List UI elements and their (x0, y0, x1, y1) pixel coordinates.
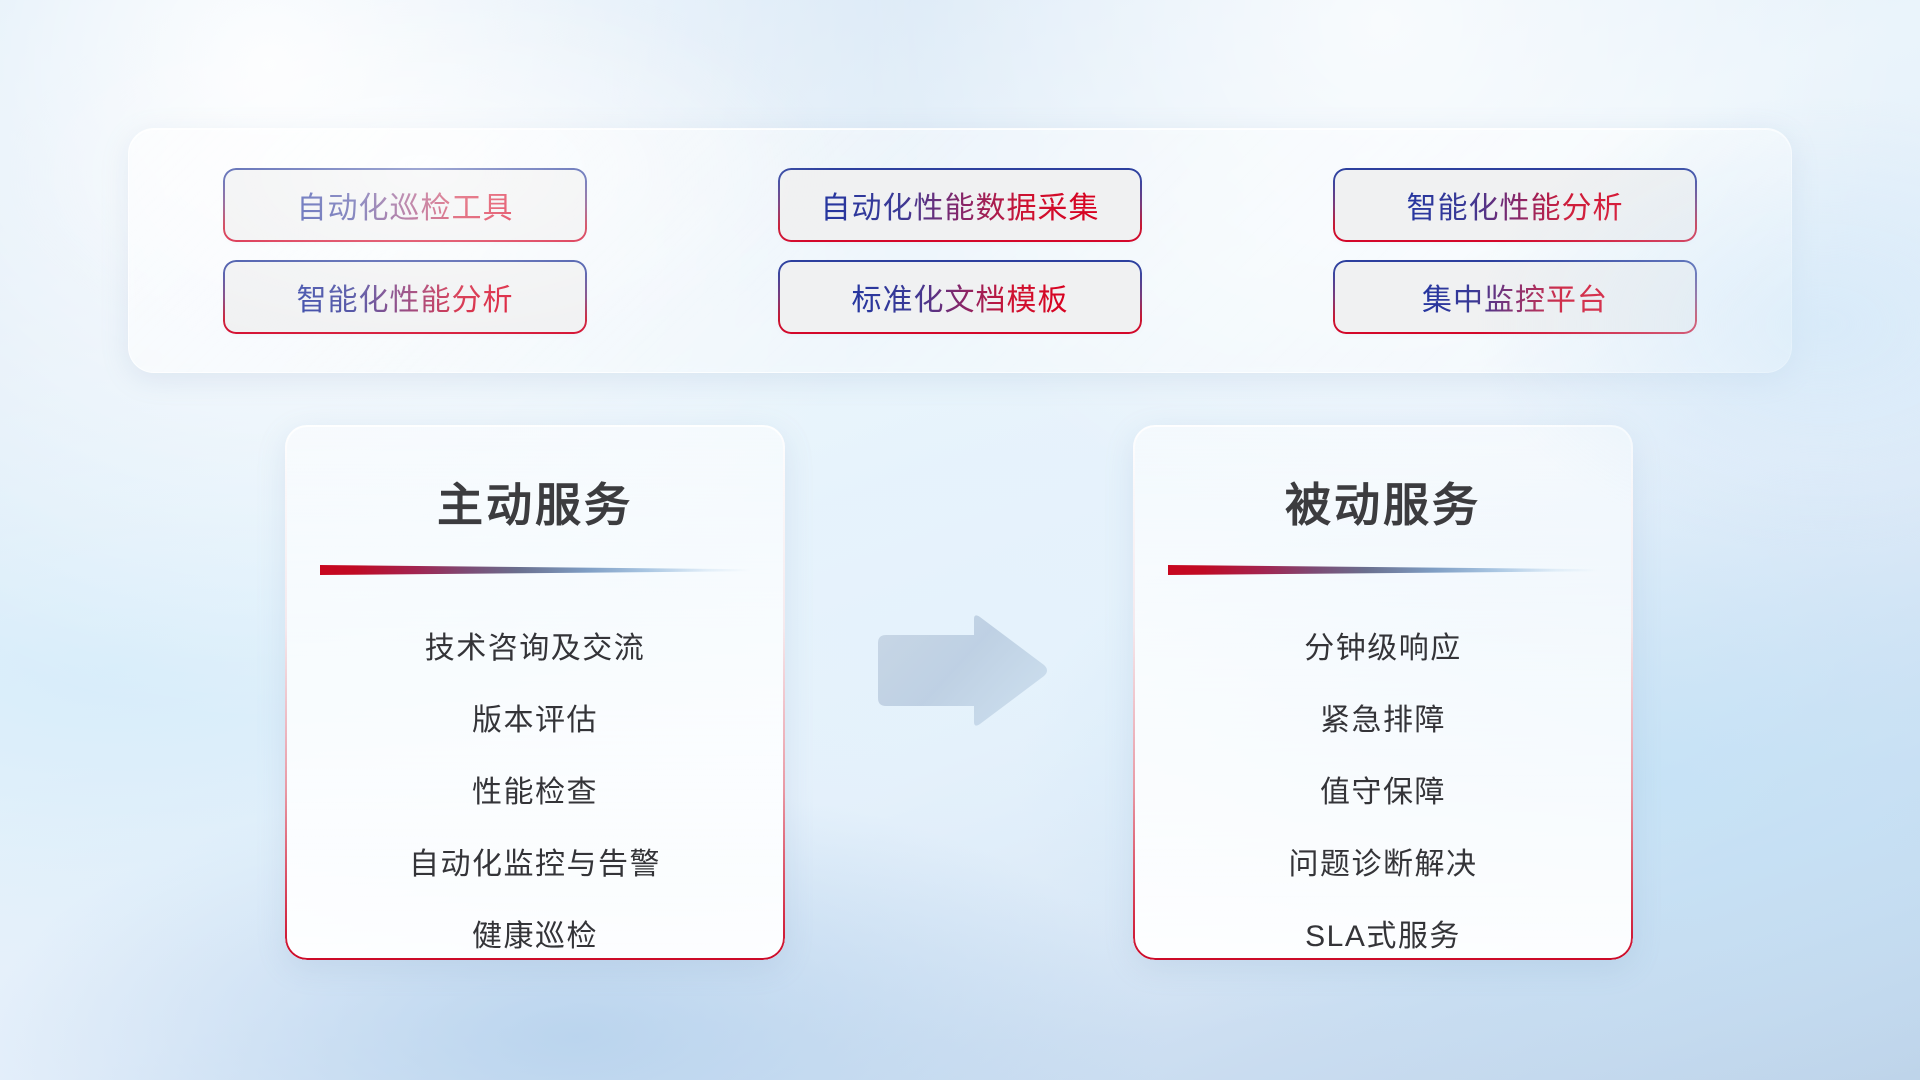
service-card-title: 被动服务 (1133, 469, 1633, 535)
capability-pill-intelligent-performance-analysis-bottom[interactable]: 智能化性能分析 (225, 262, 585, 332)
capability-pill-label: 自动化巡检工具 (297, 183, 514, 227)
capability-pill-automated-performance-data-collection[interactable]: 自动化性能数据采集 (780, 170, 1140, 240)
list-item: 版本评估 (472, 681, 598, 753)
list-item: 健康巡检 (472, 897, 598, 960)
capability-pill-label: 标准化文档模板 (852, 275, 1069, 319)
capability-panel: 自动化巡检工具 自动化性能数据采集 智能化性能分析 智能化性能分析 标准化文档模… (128, 128, 1792, 373)
list-item: 技术咨询及交流 (425, 609, 646, 681)
capability-pill-intelligent-performance-analysis-top[interactable]: 智能化性能分析 (1335, 170, 1695, 240)
title-divider (1168, 565, 1598, 575)
service-card-reactive: 被动服务 分钟级响应 紧急排障 值守保障 问题诊断解决 SLA式服务 (1133, 425, 1633, 960)
capability-pill-label: 智能化性能分析 (297, 275, 514, 319)
capability-pill-label: 自动化性能数据采集 (821, 183, 1100, 227)
flow-arrow-right (870, 613, 1050, 728)
capability-pill-standardized-document-template[interactable]: 标准化文档模板 (780, 262, 1140, 332)
capability-row-1: 自动化巡检工具 自动化性能数据采集 智能化性能分析 (225, 170, 1695, 240)
capability-row-2: 智能化性能分析 标准化文档模板 集中监控平台 (225, 262, 1695, 332)
capability-pill-label: 智能化性能分析 (1407, 183, 1624, 227)
capability-pill-label: 集中监控平台 (1422, 275, 1608, 319)
service-card-title: 主动服务 (285, 469, 785, 535)
list-item: 值守保障 (1320, 753, 1446, 825)
list-item: SLA式服务 (1305, 897, 1461, 960)
list-item: 紧急排障 (1320, 681, 1446, 753)
infographic-stage: 自动化巡检工具 自动化性能数据采集 智能化性能分析 智能化性能分析 标准化文档模… (0, 0, 1920, 1080)
capability-pill-automated-inspection-tool[interactable]: 自动化巡检工具 (225, 170, 585, 240)
list-item: 分钟级响应 (1304, 609, 1462, 681)
divider-wedge (1168, 565, 1598, 575)
list-item: 自动化监控与告警 (409, 825, 661, 897)
list-item: 性能检查 (472, 753, 598, 825)
divider-wedge (320, 565, 750, 575)
service-item-list: 分钟级响应 紧急排障 值守保障 问题诊断解决 SLA式服务 (1133, 609, 1633, 960)
list-item: 问题诊断解决 (1289, 825, 1478, 897)
service-card-proactive: 主动服务 技术咨询及交流 版本评估 性能检查 自动化监控与告警 健康巡检 (285, 425, 785, 960)
service-item-list: 技术咨询及交流 版本评估 性能检查 自动化监控与告警 健康巡检 (285, 609, 785, 960)
title-divider (320, 565, 750, 575)
capability-pill-centralized-monitoring-platform[interactable]: 集中监控平台 (1335, 262, 1695, 332)
arrow-shape (878, 615, 1047, 725)
